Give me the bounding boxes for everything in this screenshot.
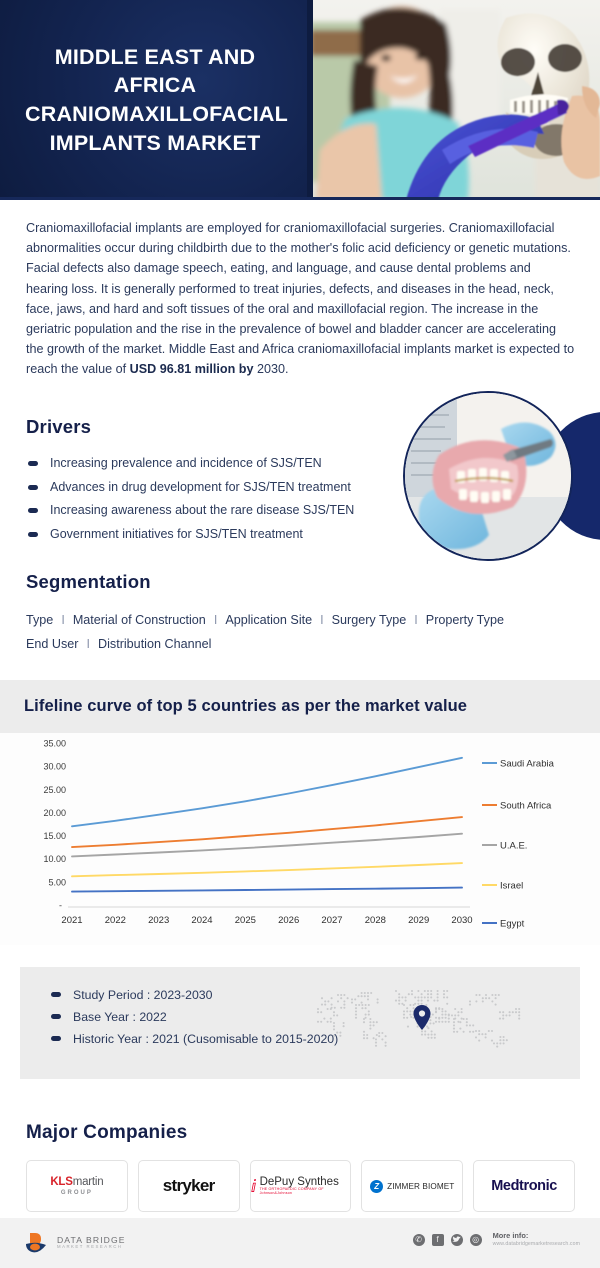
map-dot <box>445 1014 447 1016</box>
map-dot <box>366 1034 368 1036</box>
legend-label: Saudi Arabia <box>500 759 555 770</box>
map-dot <box>366 1037 368 1039</box>
segment-separator: I <box>79 637 99 651</box>
map-dot <box>493 1042 495 1044</box>
map-dot <box>401 996 403 998</box>
map-dot <box>327 1000 329 1002</box>
map-dot <box>376 1034 378 1036</box>
intro-text-after: 2030. <box>254 362 289 376</box>
map-dot <box>370 992 372 994</box>
list-item: Increasing prevalence and incidence of S… <box>26 452 406 475</box>
map-dot <box>466 1018 468 1020</box>
map-dot <box>435 1011 437 1013</box>
map-dot <box>491 994 493 996</box>
map-dot <box>499 1018 501 1020</box>
map-dot <box>456 1031 458 1033</box>
map-dot <box>488 1030 490 1032</box>
x-axis-tick: 2024 <box>191 915 212 926</box>
map-dot <box>381 1038 383 1040</box>
map-dot <box>421 1000 423 1002</box>
medtronic-logo-icon: Medtronic <box>491 1178 557 1194</box>
map-dot <box>378 1032 380 1034</box>
map-dot <box>340 997 342 999</box>
map-dot <box>499 1039 501 1041</box>
map-dot <box>459 1028 461 1030</box>
map-dot <box>430 990 432 992</box>
map-dot <box>355 1014 357 1016</box>
map-dot <box>421 996 423 998</box>
map-dot <box>432 1014 434 1016</box>
map-dot <box>340 994 342 996</box>
dentist-skull-photo <box>310 0 600 200</box>
map-dot <box>363 1034 365 1036</box>
map-dot <box>445 1010 447 1012</box>
historic-year: Historic Year : 2021 (Cusomisable to 201… <box>73 1032 338 1046</box>
map-dot <box>475 1030 477 1032</box>
pin-center-icon <box>419 1010 425 1016</box>
company-logo-zimmer-biomet[interactable]: Z ZIMMER BIOMET <box>361 1160 463 1212</box>
map-dot <box>407 1026 409 1028</box>
dash-bullet-icon <box>51 1036 61 1041</box>
map-dot <box>515 1008 517 1010</box>
map-dot <box>355 1004 357 1006</box>
map-dot <box>469 1024 471 1026</box>
footer: DATA BRIDGE MARKET RESEARCH ✆ f ◎ More i… <box>0 1218 600 1268</box>
map-dot <box>317 1021 319 1023</box>
map-dot <box>427 990 429 992</box>
map-dot <box>369 1024 371 1026</box>
map-dot <box>395 1000 397 1002</box>
dash-bullet-icon <box>28 485 38 490</box>
map-dot <box>503 1039 505 1041</box>
map-dot <box>339 1035 341 1037</box>
map-dot <box>498 994 500 996</box>
map-dot <box>485 1036 487 1038</box>
zimmer-mark-icon: Z <box>370 1180 383 1193</box>
segmentation-title: Segmentation <box>26 571 575 593</box>
footer-right: ✆ f ◎ More info: www.databridgemarketres… <box>413 1232 580 1247</box>
map-dot <box>499 1042 501 1044</box>
map-dot <box>457 1021 459 1023</box>
map-dot <box>333 1022 335 1024</box>
map-dot <box>421 1003 423 1005</box>
map-dot <box>406 1010 408 1012</box>
map-dot <box>410 1016 412 1018</box>
dash-bullet-icon <box>28 461 38 466</box>
legend-label: U.A.E. <box>500 841 527 852</box>
map-dot <box>478 1033 480 1035</box>
map-dot <box>495 997 497 999</box>
map-dot <box>446 996 448 998</box>
base-year: Base Year : 2022 <box>73 1010 167 1024</box>
map-dot <box>324 1004 326 1006</box>
data-bridge-logo-icon <box>24 1230 50 1256</box>
dental-model-photo <box>405 393 571 559</box>
map-dot <box>482 1000 484 1002</box>
map-dot <box>355 1010 357 1012</box>
x-axis-tick: 2027 <box>321 915 342 926</box>
map-dot <box>403 1004 405 1006</box>
map-dot <box>463 1031 465 1033</box>
map-dot <box>434 1037 436 1039</box>
map-dot <box>437 996 439 998</box>
map-dot <box>481 1033 483 1035</box>
map-dot <box>339 1032 341 1034</box>
map-dot <box>495 1004 497 1006</box>
map-dot <box>369 1028 371 1030</box>
hero-image <box>310 0 600 200</box>
intro-highlight: USD 96.81 million by <box>130 362 254 376</box>
series-line-egypt <box>72 888 462 892</box>
map-dot <box>367 992 369 994</box>
map-dot <box>403 1017 405 1019</box>
map-dot <box>321 997 323 999</box>
map-dot <box>457 1014 459 1016</box>
y-axis-tick: 20.00 <box>43 808 66 818</box>
map-dot <box>454 1008 456 1010</box>
map-dot <box>438 1008 440 1010</box>
map-dot <box>337 1000 339 1002</box>
map-dot <box>340 1007 342 1009</box>
map-dot <box>409 1014 411 1016</box>
intro-text: Craniomaxillofacial implants are employe… <box>26 221 574 376</box>
map-dot <box>354 998 356 1000</box>
map-dot <box>425 1004 427 1006</box>
list-item: Historic Year : 2021 (Cusomisable to 201… <box>45 1029 345 1049</box>
kls-text: KLS <box>50 1176 72 1188</box>
dash-bullet-icon <box>51 1014 61 1019</box>
map-dot <box>518 1014 520 1016</box>
map-dot <box>377 1002 379 1004</box>
map-dot <box>343 1022 345 1024</box>
map-dot <box>502 1011 504 1013</box>
map-dot <box>482 997 484 999</box>
company-logo-row: KLSmartin GROUP stryker ⅈ DePuy Synthes … <box>26 1160 575 1212</box>
map-dot <box>472 1031 474 1033</box>
martin-text: martin <box>73 1176 104 1188</box>
map-dot <box>375 1045 377 1047</box>
map-dot <box>330 1021 332 1023</box>
map-dot <box>336 1014 338 1016</box>
chart-title: Lifeline curve of top 5 countries as per… <box>0 680 600 733</box>
map-dot <box>505 1014 507 1016</box>
map-dot <box>421 993 423 995</box>
map-dot <box>491 1030 493 1032</box>
hero-divider <box>307 0 313 200</box>
map-dot <box>361 1004 363 1006</box>
map-dot <box>406 1007 408 1009</box>
map-dot <box>453 1018 455 1020</box>
map-dot <box>411 990 413 992</box>
depuy-synthes-logo-icon: ⅈ DePuy Synthes THE ORTHOPAEDIC COMPANY … <box>251 1176 351 1196</box>
map-dot <box>499 1036 501 1038</box>
whatsapp-icon[interactable]: ✆ <box>413 1234 425 1246</box>
y-axis-tick: 30.00 <box>43 762 66 772</box>
map-dot <box>403 1014 405 1016</box>
website-url[interactable]: www.databridgemarketresearch.com <box>493 1241 580 1247</box>
map-dot <box>377 998 379 1000</box>
list-item: Increasing awareness about the rare dise… <box>26 499 406 522</box>
companies-title: Major Companies <box>26 1122 575 1144</box>
drivers-list: Increasing prevalence and incidence of S… <box>26 452 406 545</box>
infographic-page: MIDDLE EAST AND AFRICA CRANIOMAXILLOFACI… <box>0 0 600 1268</box>
segment-distribution-channel: Distribution Channel <box>98 637 211 651</box>
map-dot <box>398 1003 400 1005</box>
company-logo-kls-martin[interactable]: KLSmartin GROUP <box>26 1160 128 1212</box>
facebook-icon[interactable]: f <box>432 1234 444 1246</box>
chart-body: -5.0010.0015.0020.0025.0030.0035.0020212… <box>0 733 600 945</box>
list-item: Government initiatives for SJS/TEN treat… <box>26 523 406 546</box>
map-dot <box>398 993 400 995</box>
map-dot <box>324 1000 326 1002</box>
footer-brand: DATA BRIDGE MARKET RESEARCH <box>24 1230 126 1256</box>
x-axis-tick: 2026 <box>278 915 299 926</box>
x-axis-tick: 2028 <box>365 915 386 926</box>
map-dot <box>327 1008 329 1010</box>
y-axis-tick: 5.00 <box>48 877 66 887</box>
map-dot <box>453 1021 455 1023</box>
map-dot <box>433 1000 435 1002</box>
map-dot <box>317 1011 319 1013</box>
map-dot <box>502 1014 504 1016</box>
map-dot <box>408 993 410 995</box>
map-dot <box>373 1021 375 1023</box>
kls-martin-logo-icon: KLSmartin GROUP <box>50 1176 103 1196</box>
y-axis-tick: 10.00 <box>43 854 66 864</box>
map-dot <box>320 1011 322 1013</box>
instagram-icon[interactable]: ◎ <box>470 1234 482 1246</box>
dash-bullet-icon <box>28 532 38 537</box>
hero-title-panel: MIDDLE EAST AND AFRICA CRANIOMAXILLOFACI… <box>0 0 310 200</box>
map-dot <box>469 1031 471 1033</box>
map-dot <box>459 1021 461 1023</box>
map-dot <box>414 996 416 998</box>
map-dot <box>333 1025 335 1027</box>
map-dot <box>376 1021 378 1023</box>
list-item: Advances in drug development for SJS/TEN… <box>26 476 406 499</box>
map-dot <box>437 993 439 995</box>
map-dot <box>398 1000 400 1002</box>
map-dot <box>333 1014 335 1016</box>
map-dot <box>491 1000 493 1002</box>
map-dot <box>469 1000 471 1002</box>
series-line-south-africa <box>72 817 462 847</box>
study-period: Study Period : 2023-2030 <box>73 988 212 1002</box>
map-dot <box>499 1011 501 1013</box>
map-dot <box>331 1004 333 1006</box>
major-companies-section: Major Companies KLSmartin GROUP stryker … <box>26 1122 575 1212</box>
map-dot <box>421 1034 423 1036</box>
brand-tagline: MARKET RESEARCH <box>57 1245 126 1250</box>
map-dot <box>488 997 490 999</box>
map-dot <box>364 995 366 997</box>
segment-separator: I <box>206 613 226 627</box>
x-axis-tick: 2025 <box>235 915 256 926</box>
segment-separator: I <box>53 613 73 627</box>
map-dot <box>363 1037 365 1039</box>
map-dot <box>363 1021 365 1023</box>
map-dot <box>333 1011 335 1013</box>
list-item: Base Year : 2022 <box>45 1007 345 1027</box>
map-dot <box>454 1014 456 1016</box>
map-dot <box>321 1004 323 1006</box>
intro-paragraph: Craniomaxillofacial implants are employe… <box>26 218 575 380</box>
map-dot <box>461 1018 463 1020</box>
map-dot <box>417 1026 419 1028</box>
map-dot <box>485 994 487 996</box>
map-dot <box>378 1035 380 1037</box>
map-dot <box>417 1003 419 1005</box>
map-dot <box>435 1017 437 1019</box>
map-dot <box>478 1030 480 1032</box>
map-dot <box>472 1024 474 1026</box>
lifeline-curve-chart: -5.0010.0015.0020.0025.0030.0035.0020212… <box>0 733 600 945</box>
map-dot <box>343 1004 345 1006</box>
driver-label: Increasing awareness about the rare dise… <box>50 503 354 517</box>
map-dot <box>478 1040 480 1042</box>
map-dot <box>355 1007 357 1009</box>
list-item: Study Period : 2023-2030 <box>45 985 345 1005</box>
map-dot <box>373 1024 375 1026</box>
map-dot <box>453 1031 455 1033</box>
map-dot <box>406 1017 408 1019</box>
drivers-image <box>403 391 573 561</box>
map-dot <box>431 1037 433 1039</box>
group-text: GROUP <box>50 1190 103 1196</box>
map-dot <box>409 1004 411 1006</box>
twitter-bird-glyph <box>452 1236 461 1244</box>
map-dot <box>347 997 349 999</box>
map-dot <box>413 1004 415 1006</box>
map-dot <box>518 1011 520 1013</box>
map-dot <box>496 1046 498 1048</box>
map-dot <box>364 992 366 994</box>
map-dot <box>351 998 353 1000</box>
map-dot <box>421 1030 423 1032</box>
map-dot <box>368 1004 370 1006</box>
map-dot <box>485 997 487 999</box>
driver-label: Advances in drug development for SJS/TEN… <box>50 480 351 494</box>
map-dot <box>424 996 426 998</box>
depuy-subtext: THE ORTHOPAEDIC COMPANY OF Johnson&Johns… <box>260 1188 351 1196</box>
twitter-icon[interactable] <box>451 1234 463 1246</box>
legend-label: Israel <box>500 881 523 892</box>
map-dot <box>337 994 339 996</box>
map-dot <box>381 1032 383 1034</box>
map-dot <box>446 1003 448 1005</box>
map-dot <box>506 1039 508 1041</box>
map-dot <box>351 1002 353 1004</box>
map-dot <box>361 1002 363 1004</box>
map-dot <box>320 1021 322 1023</box>
company-logo-medtronic[interactable]: Medtronic <box>473 1160 575 1212</box>
map-dot <box>424 990 426 992</box>
map-dot <box>431 1034 433 1036</box>
study-period-box: Study Period : 2023-2030 Base Year : 202… <box>20 967 580 1079</box>
map-dot <box>491 1040 493 1042</box>
map-dot <box>427 993 429 995</box>
map-dot <box>430 996 432 998</box>
map-dot <box>441 1021 443 1023</box>
map-dot <box>333 1028 335 1030</box>
map-dot <box>336 1032 338 1034</box>
footer-more-info: More info: www.databridgemarketresearch.… <box>493 1232 580 1247</box>
map-dot <box>427 1037 429 1039</box>
map-dot <box>431 1030 433 1032</box>
map-dot <box>503 1036 505 1038</box>
x-axis-tick: 2023 <box>148 915 169 926</box>
chart-panel: Lifeline curve of top 5 countries as per… <box>0 680 600 945</box>
map-dot <box>441 1017 443 1019</box>
map-dot <box>343 1007 345 1009</box>
y-axis-tick: 25.00 <box>43 785 66 795</box>
map-dot <box>509 1011 511 1013</box>
series-line-israel <box>72 863 462 876</box>
helix-icon: ⅈ <box>251 1178 257 1195</box>
map-dot <box>448 1014 450 1016</box>
map-dot <box>475 1000 477 1002</box>
map-dot <box>441 1014 443 1016</box>
map-dot <box>331 997 333 999</box>
segment-separator: I <box>312 613 332 627</box>
map-dot <box>355 1017 357 1019</box>
map-dot <box>445 1017 447 1019</box>
map-dot <box>448 1018 450 1020</box>
map-dot <box>446 990 448 992</box>
map-dot <box>427 996 429 998</box>
map-dot <box>403 1010 405 1012</box>
map-dot <box>427 1027 429 1029</box>
map-dot <box>327 1021 329 1023</box>
x-axis-tick: 2029 <box>408 915 429 926</box>
map-dot <box>330 1018 332 1020</box>
map-dot <box>429 1019 431 1021</box>
zimmer-text: ZIMMER BIOMET <box>387 1182 454 1191</box>
map-dot <box>361 992 363 994</box>
map-dot <box>424 1034 426 1036</box>
segment-property-type: Property Type <box>426 613 504 627</box>
zimmer-biomet-logo-icon: Z ZIMMER BIOMET <box>370 1180 454 1193</box>
map-dot <box>443 990 445 992</box>
map-dot <box>333 1035 335 1037</box>
map-dot <box>475 994 477 996</box>
map-dot <box>367 995 369 997</box>
map-dot <box>343 1000 345 1002</box>
map-dot <box>515 1011 517 1013</box>
page-title: MIDDLE EAST AND AFRICA CRANIOMAXILLOFACI… <box>25 43 285 157</box>
segment-separator: I <box>406 613 426 627</box>
map-dot <box>503 1042 505 1044</box>
map-dot <box>323 1018 325 1020</box>
map-dot <box>395 990 397 992</box>
map-dot <box>365 1007 367 1009</box>
map-dot <box>441 1008 443 1010</box>
map-dot <box>363 1031 365 1033</box>
dash-bullet-icon <box>51 992 61 997</box>
map-dot <box>466 1024 468 1026</box>
map-dot <box>357 995 359 997</box>
world-map <box>304 979 534 1069</box>
y-axis-tick: 15.00 <box>43 831 66 841</box>
segment-surgery-type: Surgery Type <box>332 613 407 627</box>
map-dot <box>435 1021 437 1023</box>
map-dot <box>479 994 481 996</box>
company-logo-depuy-synthes[interactable]: ⅈ DePuy Synthes THE ORTHOPAEDIC COMPANY … <box>250 1160 352 1212</box>
map-dot <box>429 1022 431 1024</box>
map-dot <box>317 1008 319 1010</box>
company-logo-stryker[interactable]: stryker <box>138 1160 240 1212</box>
hero-banner: MIDDLE EAST AND AFRICA CRANIOMAXILLOFACI… <box>0 0 600 200</box>
